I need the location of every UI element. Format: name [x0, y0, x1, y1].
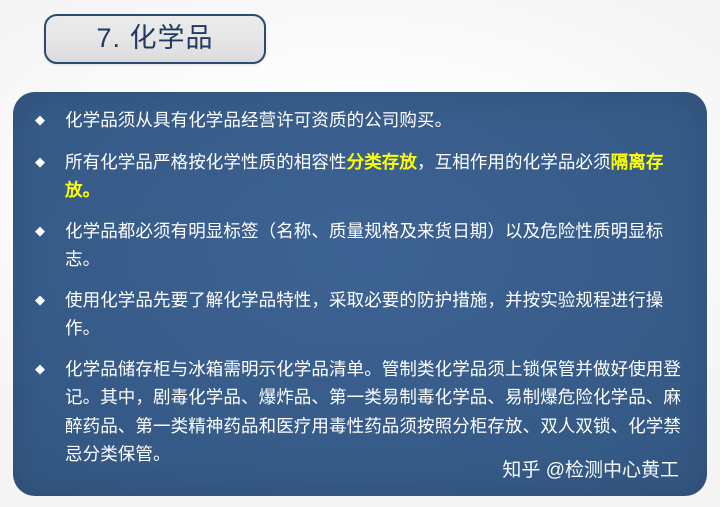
- list-item-text: 化学品都必须有明显标签（名称、质量规格及来货日期）以及危险性质明显标志。: [65, 217, 687, 274]
- diamond-bullet-icon: ◆: [35, 148, 65, 177]
- diamond-bullet-icon: ◆: [35, 355, 65, 384]
- list-item: ◆ 所有化学品严格按化学性质的相容性分类存放，互相作用的化学品必须隔离存放。: [35, 148, 687, 205]
- list-item: ◆ 化学品都必须有明显标签（名称、质量规格及来货日期）以及危险性质明显标志。: [35, 217, 687, 274]
- list-item: ◆ 使用化学品先要了解化学品特性，采取必要的防护措施，并按实验规程进行操作。: [35, 286, 687, 343]
- diamond-bullet-icon: ◆: [35, 217, 65, 246]
- text-segment: ，互相作用的化学品必须: [417, 152, 611, 172]
- diamond-bullet-icon: ◆: [35, 286, 65, 315]
- list-item: ◆ 化学品储存柜与冰箱需明示化学品清单。管制类化学品须上锁保管并做好使用登记。其…: [35, 355, 687, 469]
- section-title-chip: 7. 化学品: [44, 14, 266, 64]
- content-panel: ◆ 化学品须从具有化学品经营许可资质的公司购买。 ◆ 所有化学品严格按化学性质的…: [13, 92, 707, 496]
- watermark-attribution: 知乎 @检测中心黄工: [502, 461, 679, 480]
- list-item: ◆ 化学品须从具有化学品经营许可资质的公司购买。: [35, 106, 687, 135]
- list-item-text: 化学品须从具有化学品经营许可资质的公司购买。: [65, 106, 687, 135]
- list-item-text: 使用化学品先要了解化学品特性，采取必要的防护措施，并按实验规程进行操作。: [65, 286, 687, 343]
- text-segment: 所有化学品严格按化学性质的相容性: [65, 152, 347, 172]
- diamond-bullet-icon: ◆: [35, 106, 65, 135]
- slide-canvas: 7. 化学品 ◆ 化学品须从具有化学品经营许可资质的公司购买。 ◆ 所有化学品严…: [0, 0, 720, 507]
- page-title: 7. 化学品: [96, 25, 213, 52]
- highlighted-text-segment: 分类存放: [347, 152, 417, 172]
- list-item-text: 化学品储存柜与冰箱需明示化学品清单。管制类化学品须上锁保管并做好使用登记。其中，…: [65, 355, 687, 469]
- list-item-text: 所有化学品严格按化学性质的相容性分类存放，互相作用的化学品必须隔离存放。: [65, 148, 687, 205]
